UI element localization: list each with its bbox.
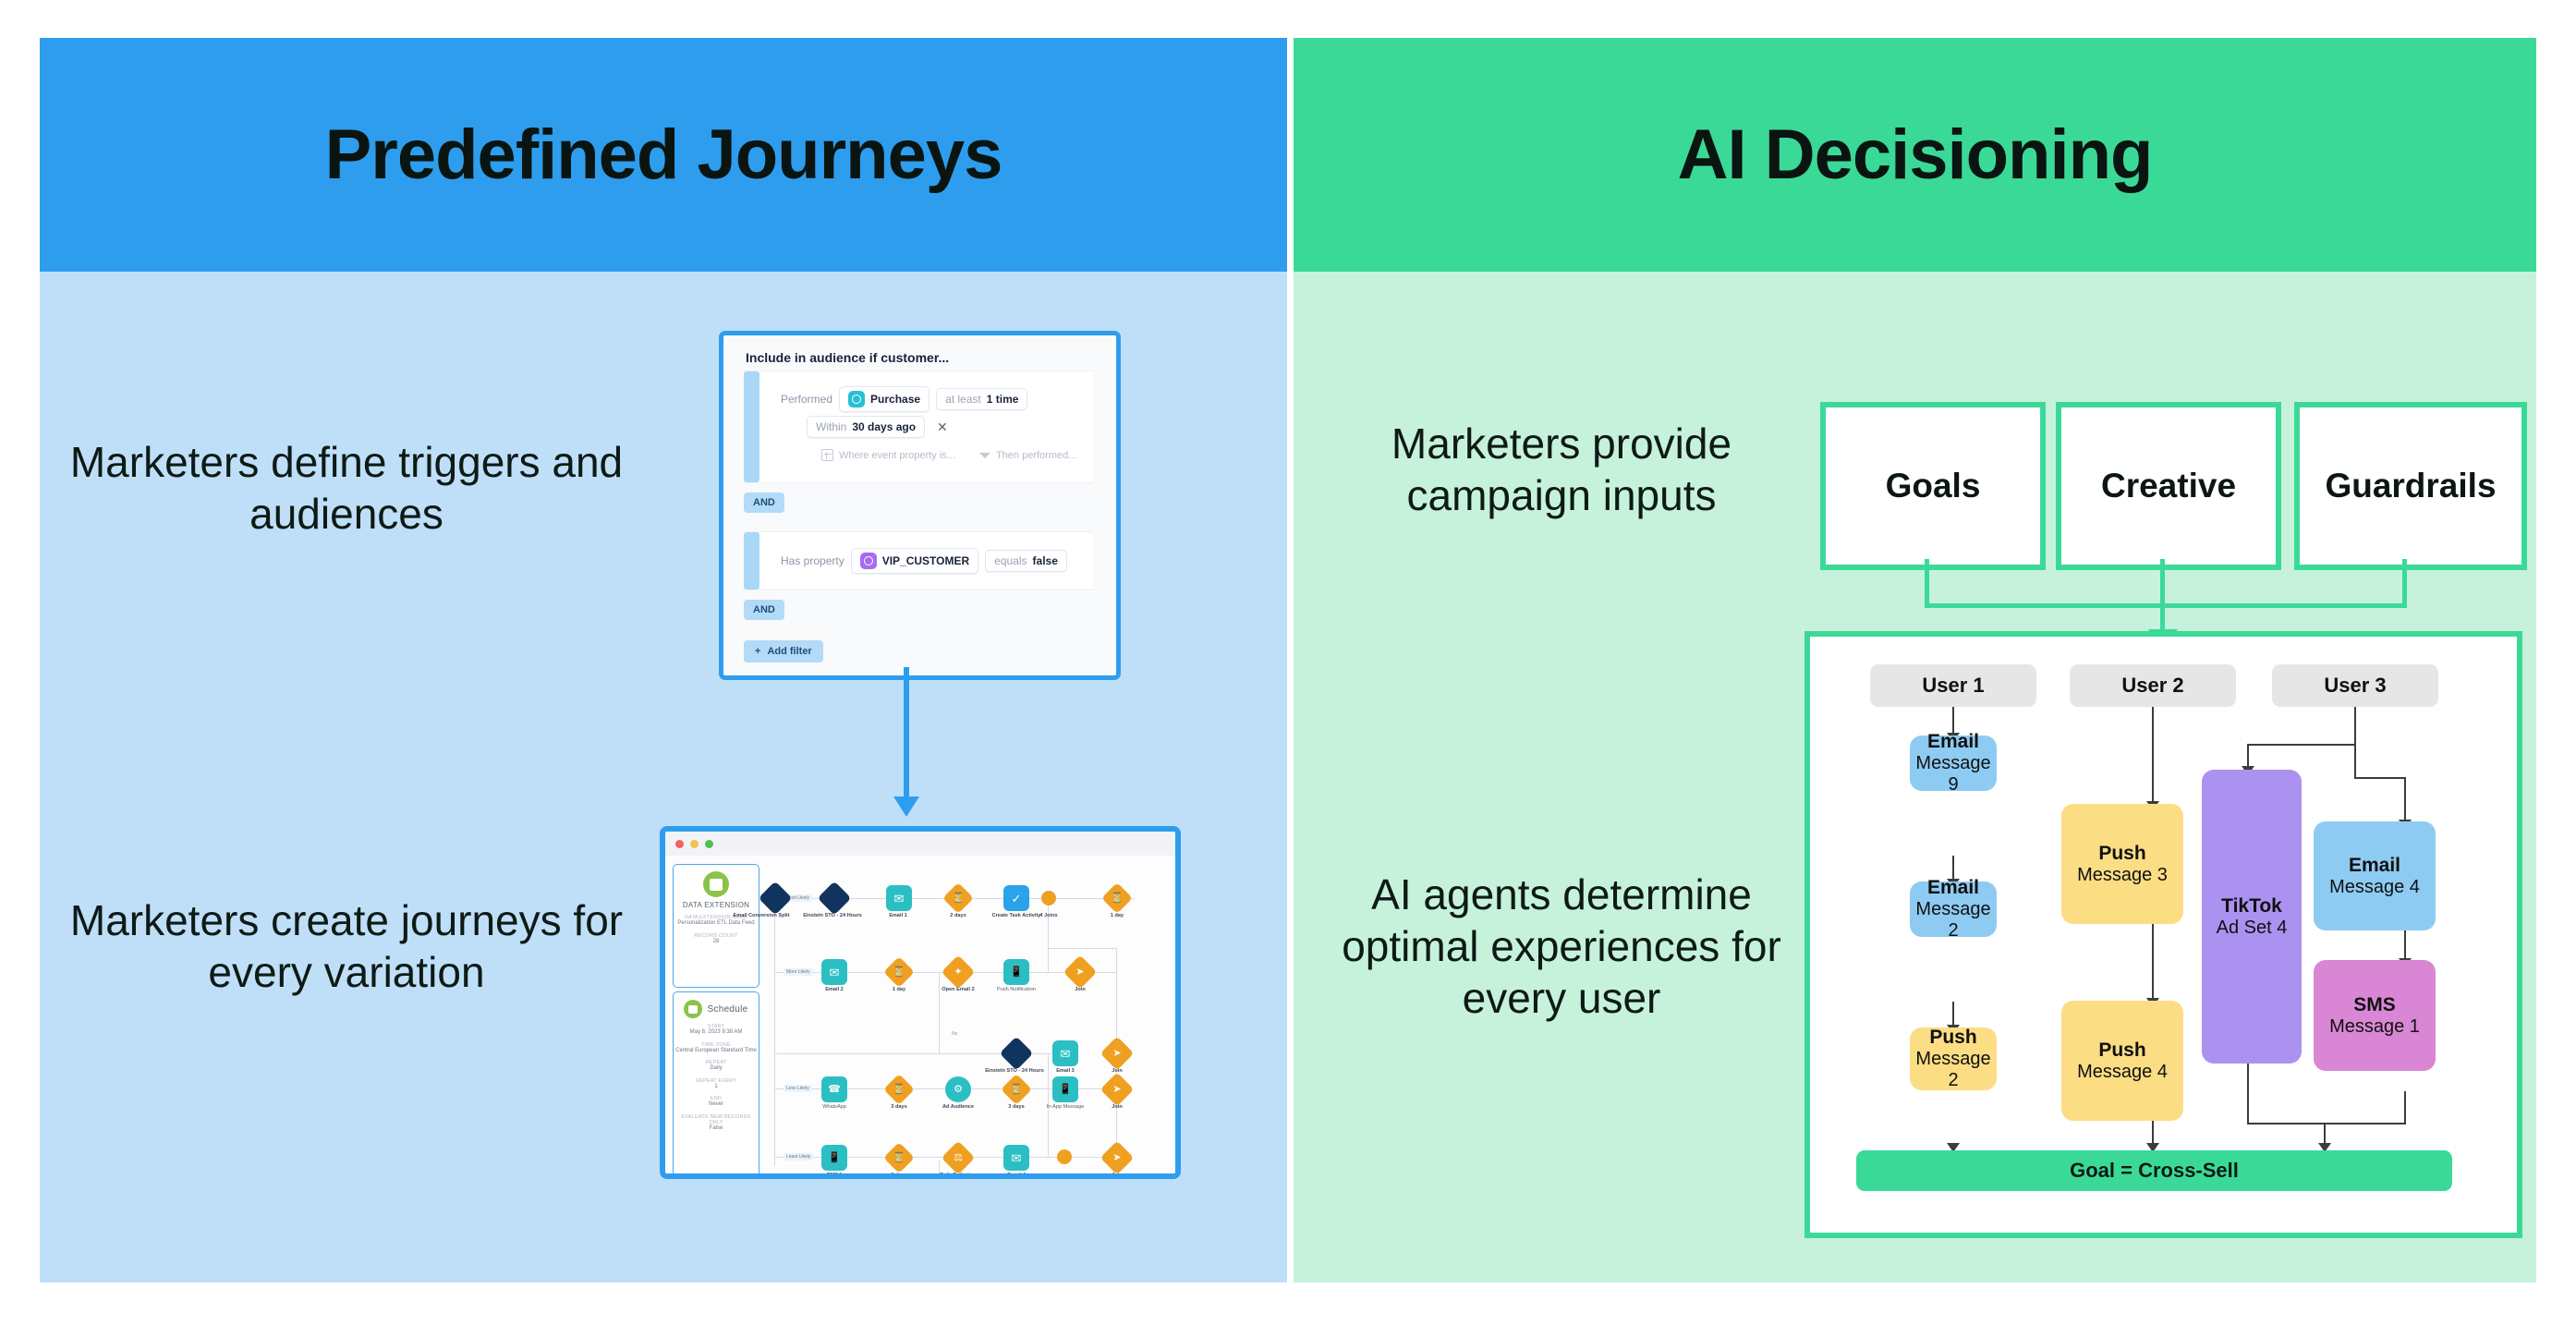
right-caption-2: AI agents determine optimal experiences … <box>1317 869 1806 1024</box>
journey-node[interactable]: ➤ <box>1103 1039 1131 1067</box>
schedule-title: Schedule <box>707 1004 747 1015</box>
input-box-guardrails[interactable]: Guardrails <box>2294 402 2527 570</box>
add-filter-label: Add filter <box>767 646 811 657</box>
journey-edge <box>939 1161 940 1173</box>
left-caption-2: Marketers create journeys for every vari… <box>55 894 638 998</box>
left-panel-header: Predefined Journeys <box>40 38 1287 272</box>
journey-node-label: Join <box>1087 1104 1148 1111</box>
left-flow-arrowhead <box>893 796 919 817</box>
split-icon <box>759 881 793 916</box>
path-label: More Likely <box>784 968 813 976</box>
left-flow-connector <box>904 667 909 806</box>
journey-node[interactable] <box>1002 1039 1030 1067</box>
input-box-goals[interactable]: Goals <box>1820 402 2046 570</box>
message-node[interactable]: Email Message 2 <box>1910 881 1997 937</box>
input-guardrails-label: Guardrails <box>2325 467 2496 505</box>
input-creative-label: Creative <box>2101 467 2236 505</box>
message-channel: SMS <box>2353 994 2396 1016</box>
flow-arrow <box>2247 1064 2249 1124</box>
journey-edge <box>774 1053 1079 1054</box>
journey-node[interactable]: ✉ <box>885 884 913 912</box>
sched-value: False <box>674 1125 759 1133</box>
journey-node-label: Email 2 <box>804 987 865 993</box>
message-node[interactable]: SMS Message 1 <box>2314 960 2436 1071</box>
message-channel: Email <box>1927 877 1979 899</box>
flow-arrow <box>2354 707 2356 746</box>
journey-node[interactable]: ⏳ <box>1103 884 1131 912</box>
journey-node-label: Push Notification <box>986 987 1047 993</box>
flow-arrow <box>2404 1091 2406 1124</box>
user-2-label: User 2 <box>2121 674 2183 698</box>
sched-value: Daily <box>674 1065 759 1073</box>
journey-node[interactable]: ➤ <box>1066 958 1094 986</box>
path-label: Least Likely <box>784 1153 813 1161</box>
schedule-panel[interactable]: Schedule START May 8, 2023 9:38 AM TIME … <box>673 991 759 1178</box>
rule-1-event-chip[interactable]: Purchase <box>839 386 930 412</box>
flow-arrow <box>2354 777 2406 779</box>
journey-node-label: Path Optimizer <box>928 1173 989 1179</box>
rule-1-count-chip[interactable]: at least 1 time <box>936 388 1027 410</box>
journey-node-label: 3 days <box>869 1104 930 1111</box>
left-panel-title: Predefined Journeys <box>325 120 1002 190</box>
inputs-connector-creative <box>2160 559 2165 636</box>
input-goals-label: Goals <box>1886 467 1981 505</box>
where-event-property-label: Where event property is... <box>839 450 955 461</box>
funnel-icon <box>979 453 990 458</box>
left-caption-1: Marketers define triggers and audiences <box>55 436 638 540</box>
flow-arrow <box>2354 744 2356 779</box>
user-1-label: User 1 <box>1922 674 1984 698</box>
data-extension-title: DATA EXTENSION <box>674 901 759 909</box>
journey-node[interactable]: ⏳ <box>885 1144 913 1172</box>
journey-node[interactable]: ⏳ <box>1002 1076 1030 1103</box>
user-pill-3[interactable]: User 3 <box>2272 664 2438 707</box>
rule-2-property-chip[interactable]: VIP_CUSTOMER <box>851 548 978 574</box>
join-dot-icon <box>1057 1149 1072 1164</box>
audience-card-title: Include in audience if customer... <box>746 350 949 365</box>
close-traffic-light[interactable] <box>675 840 684 848</box>
zoom-traffic-light[interactable] <box>705 840 713 848</box>
add-filter-button[interactable]: + Add filter <box>744 640 823 662</box>
audience-rule-group-2: Has property VIP_CUSTOMER equals false <box>744 531 1093 590</box>
journey-node[interactable]: ✓ <box>1002 884 1030 912</box>
input-box-creative[interactable]: Creative <box>2056 402 2281 570</box>
inputs-connector-goals <box>1925 559 1929 608</box>
journey-node[interactable]: 📱 <box>820 1144 848 1172</box>
message-node[interactable]: Push Message 3 <box>2061 804 2183 924</box>
rule-1-prefix: Performed <box>781 393 832 406</box>
rule-1-primary-row: Performed Purchase at least 1 time <box>781 386 1027 412</box>
journey-node-label: Email 1 <box>868 913 929 919</box>
message-label: Ad Set 4 <box>2217 918 2288 939</box>
data-extension-panel[interactable]: DATA EXTENSION DATA EXTENSION NAME Perso… <box>673 864 759 988</box>
journey-builder-window: DATA EXTENSION DATA EXTENSION NAME Perso… <box>660 826 1181 1179</box>
journey-node-label: Ad Audience <box>928 1104 989 1111</box>
rule-rail <box>744 371 759 482</box>
einstein-icon <box>818 881 852 916</box>
rule-2-prefix: Has property <box>781 554 844 567</box>
message-channel: Email <box>1927 731 1979 753</box>
journey-node-label: 1 day <box>1087 913 1148 919</box>
journey-node[interactable]: ✦ <box>944 958 972 986</box>
flow-arrow <box>2247 1123 2406 1124</box>
rule-2-primary-row: Has property VIP_CUSTOMER equals false <box>781 548 1067 574</box>
right-panel-header: AI Decisioning <box>1294 38 2536 272</box>
sched-value: May 8, 2023 9:38 AM <box>674 1029 759 1037</box>
journey-node[interactable]: ✉ <box>1051 1039 1079 1067</box>
journey-node[interactable]: ⏳ <box>885 1076 913 1103</box>
rule-1-window-value: 30 days ago <box>852 420 916 433</box>
message-node[interactable]: Email Message 9 <box>1910 735 1997 791</box>
journey-node-label: Open Email 2 <box>928 987 989 993</box>
journey-node[interactable]: ✉ <box>820 958 848 986</box>
journey-node-label: 1 day <box>869 987 930 993</box>
sched-value: 1 <box>674 1084 759 1091</box>
message-channel: Email <box>2349 855 2400 877</box>
inputs-connector-guardrails <box>2402 559 2407 608</box>
message-node[interactable]: TikTok Ad Set 4 <box>2202 770 2302 1064</box>
user-pill-2[interactable]: User 2 <box>2070 664 2236 707</box>
schedule-header: Schedule <box>674 992 759 1018</box>
journey-edge <box>1048 898 1049 972</box>
journey-edge <box>939 972 940 1053</box>
flow-arrow <box>2152 924 2154 1001</box>
user-badge-icon <box>860 553 877 569</box>
journey-node-label: SMS 1 <box>804 1173 865 1179</box>
journey-node[interactable]: ⚙ <box>944 1076 972 1103</box>
rule-1-window-row: Within 30 days ago ✕ <box>807 416 948 438</box>
journey-canvas[interactable]: DATA EXTENSION DATA EXTENSION NAME Perso… <box>665 856 1175 1173</box>
sched-value: Central European Standard Time <box>674 1048 759 1055</box>
journey-node-label: WhatsApp <box>804 1104 865 1111</box>
journey-node[interactable] <box>1041 891 1056 906</box>
inputs-connector-bus <box>1925 603 2407 608</box>
clock-icon <box>848 391 865 407</box>
journey-node[interactable]: ➤ <box>1103 1076 1131 1103</box>
rule-1-count-value: 1 time <box>987 393 1019 406</box>
journey-node[interactable] <box>820 884 848 912</box>
flow-arrow <box>2404 777 2406 823</box>
goal-label: Goal = Cross-Sell <box>2070 1159 2239 1183</box>
journey-node-label: Email 4 <box>986 1173 1047 1179</box>
journey-node[interactable]: ⚖ <box>944 1144 972 1172</box>
rule-2-operator-chip[interactable]: equals false <box>985 550 1067 572</box>
message-label: Message 9 <box>1910 753 1997 796</box>
connector-and-1[interactable]: AND <box>744 492 784 513</box>
journey-edge <box>774 898 775 1166</box>
calendar-icon <box>684 1000 702 1018</box>
journey-node[interactable]: ☎ <box>820 1076 848 1103</box>
message-label: Message 1 <box>2329 1016 2420 1038</box>
de-field-value: 28 <box>674 939 759 946</box>
edge-label: No <box>952 1031 957 1037</box>
message-label: Message 2 <box>1910 899 1997 942</box>
rule-rail <box>744 532 759 590</box>
audience-filter-card: Include in audience if customer... Perfo… <box>719 331 1121 680</box>
journey-node-label: Einstein STO - 24 Hours <box>802 913 863 919</box>
right-panel-title: AI Decisioning <box>1678 120 2153 190</box>
flow-arrow <box>2152 707 2154 804</box>
close-icon[interactable]: ✕ <box>937 419 948 435</box>
message-node[interactable]: Email Message 4 <box>2314 821 2436 930</box>
message-channel: TikTok <box>2221 895 2282 918</box>
path-label: Less Likely <box>784 1085 812 1092</box>
minimize-traffic-light[interactable] <box>690 840 699 848</box>
ai-flow-container: User 1 User 2 User 3 <box>1804 631 2522 1238</box>
journey-node[interactable]: 📱 <box>1002 958 1030 986</box>
message-label: Message 4 <box>2077 1062 2168 1083</box>
rule-2-value: false <box>1033 554 1058 567</box>
sched-value: Never <box>674 1101 759 1109</box>
add-box-icon <box>821 449 833 461</box>
rule-1-window-prefix: Within <box>816 420 846 433</box>
journey-node[interactable] <box>1057 1149 1072 1164</box>
journey-node[interactable]: ⏳ <box>944 884 972 912</box>
list-icon <box>703 871 729 897</box>
flow-arrow <box>1952 1002 1954 1027</box>
audience-rule-group-1: Performed Purchase at least 1 time Withi… <box>744 371 1093 483</box>
journey-node-label: Join <box>1087 1173 1148 1179</box>
window-titlebar <box>665 832 1181 856</box>
message-node[interactable]: Push Message 4 <box>2061 1001 2183 1121</box>
then-performed-label: Then performed... <box>996 450 1076 461</box>
message-channel: Push <box>2098 1039 2145 1062</box>
journey-node[interactable]: ⏳ <box>885 958 913 986</box>
goal-bar: Goal = Cross-Sell <box>1856 1150 2452 1191</box>
message-label: Message 2 <box>1910 1049 1997 1091</box>
then-performed-action[interactable]: Then performed... <box>979 450 1076 461</box>
journey-node[interactable]: 📱 <box>1051 1076 1079 1103</box>
message-label: Message 4 <box>2329 877 2420 898</box>
sched-label: EVALUATE NEW RECORDS ONLY <box>674 1114 759 1125</box>
journey-node-label: 3 days <box>869 1173 930 1179</box>
journey-node-label: Email Conversion Split <box>731 913 792 919</box>
journey-node-label: 2 days <box>928 913 989 919</box>
rule-1-count-prefix: at least <box>945 393 981 406</box>
rule-2-operator: equals <box>994 554 1027 567</box>
rule-1-event-label: Purchase <box>870 393 920 406</box>
user-pill-1[interactable]: User 1 <box>1870 664 2036 707</box>
einstein-icon <box>1000 1037 1034 1071</box>
journey-node[interactable] <box>761 884 789 912</box>
rule-1-sub-actions: Where event property is... Then performe… <box>821 449 1076 461</box>
right-caption-1: Marketers provide campaign inputs <box>1317 418 1806 521</box>
journey-node[interactable]: ✉ <box>1002 1144 1030 1172</box>
where-event-property-action[interactable]: Where event property is... <box>821 449 955 461</box>
message-label: Message 3 <box>2077 865 2168 886</box>
comparison-infographic: Predefined Journeys Marketers define tri… <box>0 0 2576 1325</box>
plus-icon: + <box>755 646 760 657</box>
join-dot-icon <box>1041 891 1056 906</box>
journey-node-label: Join <box>1050 987 1111 993</box>
user-3-label: User 3 <box>2324 674 2386 698</box>
journey-node-label: 4 Joins <box>1018 913 1079 919</box>
rule-1-window-chip[interactable]: Within 30 days ago <box>807 416 925 438</box>
rule-2-property-label: VIP_CUSTOMER <box>882 554 969 567</box>
message-node[interactable]: Push Message 2 <box>1910 1027 1997 1090</box>
connector-and-2[interactable]: AND <box>744 600 784 620</box>
flow-arrow <box>2247 744 2356 746</box>
message-channel: Push <box>1929 1027 1976 1049</box>
journey-edge <box>1048 948 1117 949</box>
journey-node[interactable]: ➤ <box>1103 1144 1131 1172</box>
de-field-value: Personalization ETL Data Feed <box>674 920 759 928</box>
message-channel: Push <box>2098 843 2145 865</box>
